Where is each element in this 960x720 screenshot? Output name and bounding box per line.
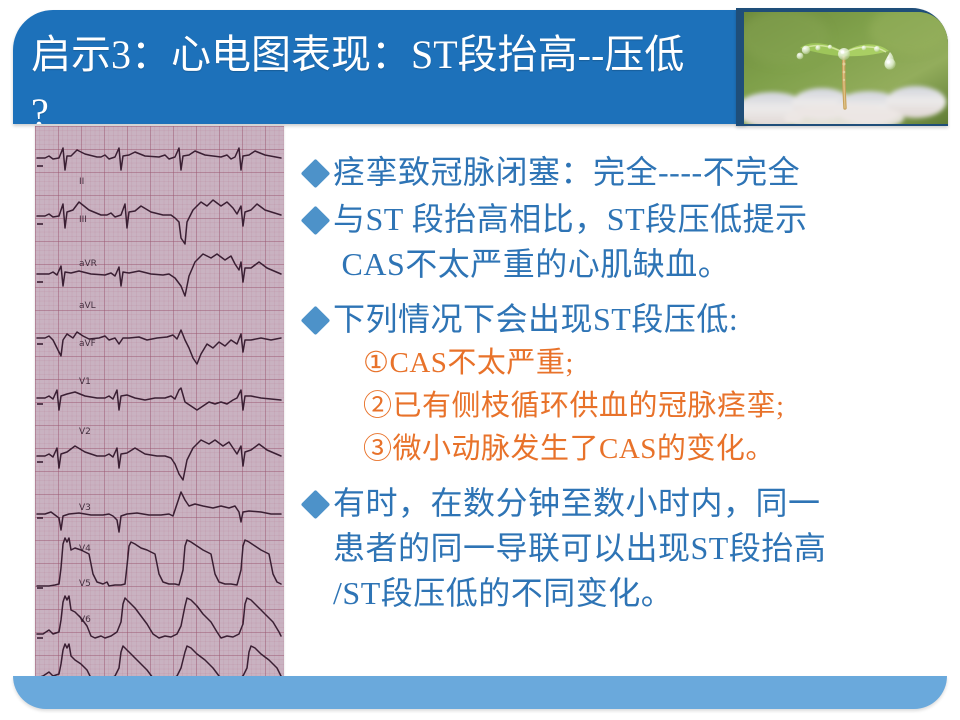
presentation-slide: 启示3：心电图表现：ST段抬高--压低 ? bbox=[0, 0, 960, 720]
sub-list-item: ②已有侧枝循环供血的冠脉痉挛; bbox=[363, 385, 955, 428]
svg-text:III: III bbox=[79, 215, 87, 225]
svg-text:V3: V3 bbox=[79, 503, 91, 513]
bullet-label: 痉挛致冠脉闭塞：完全----不完全 bbox=[333, 150, 955, 195]
svg-text:aVL: aVL bbox=[79, 301, 96, 311]
spacer bbox=[305, 289, 955, 297]
diamond-bullet-icon bbox=[301, 206, 331, 236]
svg-text:aVR: aVR bbox=[79, 259, 97, 269]
diamond-bullet-icon bbox=[301, 306, 331, 336]
sub-list-item: ③微小动脉发生了CAS的变化。 bbox=[363, 428, 955, 471]
bullet-label: 与ST 段抬高相比，ST段压低提示 CAS不太严重的心肌缺血。 bbox=[333, 197, 955, 287]
photo-frame bbox=[736, 8, 948, 126]
svg-text:V5: V5 bbox=[79, 579, 91, 589]
svg-text:V1: V1 bbox=[79, 377, 91, 387]
slide-footer-bar bbox=[13, 676, 947, 709]
bullet-item: 痉挛致冠脉闭塞：完全----不完全 bbox=[305, 150, 955, 195]
sub-list-item: ①CAS不太严重; bbox=[363, 342, 955, 385]
svg-text:V4: V4 bbox=[79, 544, 91, 554]
svg-text:II: II bbox=[79, 177, 84, 187]
diamond-bullet-icon bbox=[301, 490, 331, 520]
bullet-item: 有时，在数分钟至数小时内，同一 患者的同一导联可以出现ST段抬高 /ST段压低的… bbox=[305, 481, 955, 616]
slide-body-content: 痉挛致冠脉闭塞：完全----不完全 与ST 段抬高相比，ST段压低提示 CAS不… bbox=[305, 150, 955, 660]
bullet-label: 下列情况下会出现ST段压低: bbox=[333, 297, 955, 342]
svg-text:aVF: aVF bbox=[79, 339, 96, 349]
bullet-item: 与ST 段抬高相比，ST段压低提示 CAS不太严重的心肌缺血。 bbox=[305, 197, 955, 287]
slide-title-bar: 启示3：心电图表现：ST段抬高--压低 ? bbox=[13, 10, 746, 124]
bullet-item: 下列情况下会出现ST段压低: ①CAS不太严重; ②已有侧枝循环供血的冠脉痉挛;… bbox=[305, 297, 955, 471]
svg-text:V2: V2 bbox=[79, 427, 91, 437]
svg-text:V6: V6 bbox=[79, 615, 91, 625]
seedling-sprout-photo bbox=[744, 12, 948, 124]
page-title: 启示3：心电图表现：ST段抬高--压低 ? bbox=[31, 26, 746, 124]
sub-item-list: ①CAS不太严重; ②已有侧枝循环供血的冠脉痉挛; ③微小动脉发生了CAS的变化… bbox=[363, 342, 955, 471]
ecg-12-lead-strip: II III aVR aVL aVF V1 V2 V3 V4 V5 V6 bbox=[35, 126, 284, 682]
diamond-bullet-icon bbox=[301, 159, 331, 189]
spacer bbox=[305, 473, 955, 481]
bullet-label: 有时，在数分钟至数小时内，同一 患者的同一导联可以出现ST段抬高 /ST段压低的… bbox=[333, 481, 955, 616]
